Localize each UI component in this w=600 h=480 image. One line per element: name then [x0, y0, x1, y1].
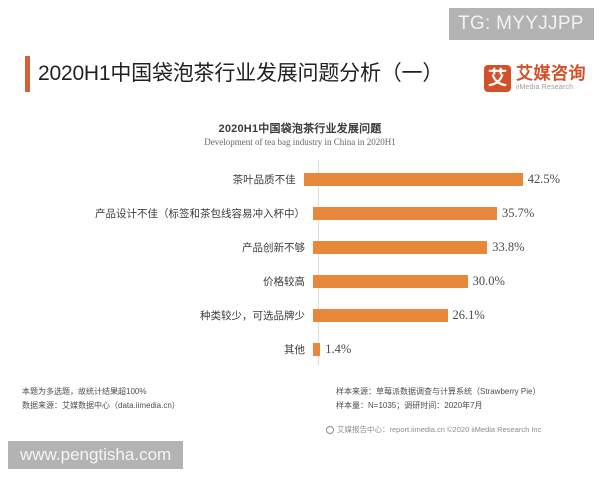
bar-category-label: 产品设计不佳（标签和茶包线容易冲入杯中） — [40, 206, 312, 221]
bar-value-label: 30.0% — [473, 274, 505, 289]
bar-row: 其他1.4% — [40, 332, 560, 366]
bar-chart: 2020H1中国袋泡茶行业发展问题 Development of tea bag… — [0, 112, 600, 370]
footer-note-line: 样本来源：草莓派数据调查与计算系统（Strawberry Pie） — [336, 385, 596, 399]
bar-value-label: 1.4% — [325, 342, 351, 357]
logo-text: 艾媒咨询 iiMedia Research — [516, 65, 586, 92]
bar-category-label: 种类较少，可选品牌少 — [40, 308, 312, 323]
bar-row: 种类较少，可选品牌少26.1% — [40, 298, 560, 332]
logo-name-cn: 艾媒咨询 — [516, 65, 586, 83]
footer-note-line: 数据来源：艾媒数据中心（data.iimedia.cn） — [22, 399, 312, 413]
bar-row: 产品创新不够33.8% — [40, 230, 560, 264]
bar — [313, 275, 468, 288]
bar-track: 26.1% — [312, 298, 560, 332]
bar-track: 30.0% — [312, 264, 560, 298]
bar-track: 42.5% — [303, 162, 560, 196]
bar — [304, 173, 523, 186]
imedia-logo: 艾 艾媒咨询 iiMedia Research — [484, 60, 588, 96]
site-watermark: www.pengtisha.com — [8, 441, 183, 469]
bar-row: 价格较高30.0% — [40, 264, 560, 298]
bar-row: 茶叶品质不佳42.5% — [40, 162, 560, 196]
footer-note-line: 本题为多选题，故统计结果超100% — [22, 385, 312, 399]
footer-note-line: 样本量：N=1035；调研时间：2020年7月 — [336, 399, 596, 413]
bar-value-label: 35.7% — [502, 206, 534, 221]
bar-category-label: 价格较高 — [40, 274, 312, 289]
tg-watermark-badge: TG: MYYJJPP — [449, 8, 594, 40]
bar-track: 1.4% — [312, 332, 560, 366]
bar-row: 产品设计不佳（标签和茶包线容易冲入杯中）35.7% — [40, 196, 560, 230]
globe-icon — [326, 426, 334, 434]
bar-category-label: 其他 — [40, 342, 312, 357]
bar-value-label: 33.8% — [492, 240, 524, 255]
bar — [313, 241, 487, 254]
copyright-text: 艾媒报告中心：report.iimedia.cn ©2020 iiMedia R… — [337, 424, 541, 435]
title-accent-bar — [25, 56, 30, 92]
bar-value-label: 26.1% — [453, 308, 485, 323]
bar — [313, 207, 497, 220]
bar-value-label: 42.5% — [528, 172, 560, 187]
copyright-line: 艾媒报告中心：report.iimedia.cn ©2020 iiMedia R… — [326, 424, 541, 435]
chart-title: 2020H1中国袋泡茶行业发展问题 — [0, 120, 600, 136]
bar-track: 33.8% — [312, 230, 560, 264]
bar-category-label: 茶叶品质不佳 — [40, 172, 303, 187]
slide-page: TG: MYYJJPP 2020H1中国袋泡茶行业发展问题分析（一） 艾 艾媒咨… — [0, 0, 600, 480]
bar-category-label: 产品创新不够 — [40, 240, 312, 255]
logo-name-en: iiMedia Research — [516, 83, 586, 92]
chart-plot-area: 茶叶品质不佳42.5%产品设计不佳（标签和茶包线容易冲入杯中）35.7%产品创新… — [40, 160, 560, 365]
bar — [313, 309, 448, 322]
footer-note-right: 样本来源：草莓派数据调查与计算系统（Strawberry Pie） 样本量：N=… — [336, 385, 596, 413]
page-title: 2020H1中国袋泡茶行业发展问题分析（一） — [38, 56, 443, 92]
bar — [313, 343, 320, 356]
bar-track: 35.7% — [312, 196, 560, 230]
chart-subtitle: Development of tea bag industry in China… — [0, 137, 600, 147]
logo-mark-icon: 艾 — [484, 65, 511, 92]
footer-note-left: 本题为多选题，故统计结果超100% 数据来源：艾媒数据中心（data.iimed… — [22, 385, 312, 413]
